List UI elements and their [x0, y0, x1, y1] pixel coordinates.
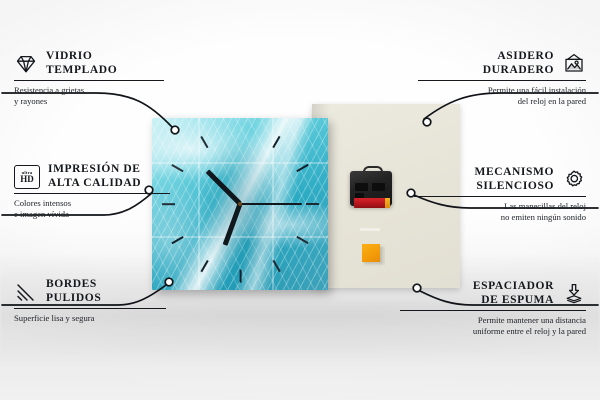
feature-title-line1: ESPACIADOR — [473, 280, 554, 292]
feature-divider — [418, 80, 586, 81]
feature-espaciador-de-espuma: ESPACIADOR DE ESPUMA Permite mantener un… — [400, 280, 586, 336]
feature-desc-line2: del reloj en la pared — [518, 96, 586, 106]
clock-glass-face — [152, 118, 328, 290]
mechanism-slot — [355, 183, 368, 191]
feature-desc-line1: Permite mantener una distancia — [478, 315, 586, 325]
glass-reflection — [152, 118, 328, 290]
gear-icon — [562, 168, 586, 192]
ultra-hd-badge-large: HD — [20, 175, 34, 184]
product-image — [130, 96, 410, 296]
feature-desc-line1: Las manecillas del reloj — [504, 201, 586, 211]
feature-title-line1: IMPRESIÓN DE — [48, 163, 141, 175]
battery — [354, 198, 388, 208]
feature-desc-line1: Superficie lisa y segura — [14, 313, 94, 323]
feature-desc-line2: e imagen vívida — [14, 209, 69, 219]
feature-impresion-alta-calidad: ultra HD IMPRESIÓN DE ALTA CALIDAD Color… — [14, 163, 170, 219]
feature-title-line2: DURADERO — [483, 64, 554, 76]
feature-desc-line2: uniforme entre el reloj y la pared — [473, 326, 586, 336]
feature-divider — [400, 310, 586, 311]
feature-title-line2: TEMPLADO — [46, 64, 117, 76]
feature-divider — [14, 193, 170, 194]
battery-label — [360, 228, 380, 231]
ultra-hd-icon: ultra HD — [14, 165, 40, 189]
foam-spacer-shadow — [380, 247, 385, 265]
feature-desc-line2: no emiten ningún sonido — [501, 212, 586, 222]
feature-desc-line2: y rayones — [14, 96, 47, 106]
feature-divider — [14, 80, 164, 81]
mechanism-slot — [372, 183, 385, 191]
feature-title-line2: PULIDOS — [46, 292, 101, 304]
battery-positive-terminal — [385, 198, 390, 208]
diagonal-lines-icon — [14, 280, 38, 304]
feature-desc-line1: Resistencia a grietas — [14, 85, 84, 95]
feature-vidrio-templado: VIDRIO TEMPLADO Resistencia a grietas y … — [14, 50, 164, 106]
mechanism-body — [350, 171, 392, 206]
diamond-icon — [14, 52, 38, 76]
feature-title-line1: MECANISMO — [474, 166, 554, 178]
feature-mecanismo-silencioso: MECANISMO SILENCIOSO Las manecillas del … — [414, 166, 586, 222]
feature-title-line2: DE ESPUMA — [481, 294, 554, 306]
product-infographic: VIDRIO TEMPLADO Resistencia a grietas y … — [0, 0, 600, 400]
feature-title-line1: ASIDERO — [497, 50, 554, 62]
arrow-onto-layers-icon — [562, 282, 586, 306]
feature-title-line1: BORDES — [46, 278, 97, 290]
feature-title-line1: VIDRIO — [46, 50, 92, 62]
framed-picture-hanging-icon — [562, 52, 586, 76]
feature-title-line2: SILENCIOSO — [476, 180, 554, 192]
feature-desc-line1: Colores intensos — [14, 198, 71, 208]
feature-bordes-pulidos: BORDES PULIDOS Superficie lisa y segura — [14, 278, 166, 324]
feature-title-line2: ALTA CALIDAD — [48, 177, 141, 189]
feature-asidero-duradero: ASIDERO DURADERO Permite una fácil insta… — [418, 50, 586, 106]
feature-divider — [14, 308, 166, 309]
foam-spacer-pad — [362, 244, 380, 262]
feature-divider — [414, 196, 586, 197]
feature-desc-line1: Permite una fácil instalación — [488, 85, 586, 95]
clock-mechanism — [350, 166, 392, 206]
